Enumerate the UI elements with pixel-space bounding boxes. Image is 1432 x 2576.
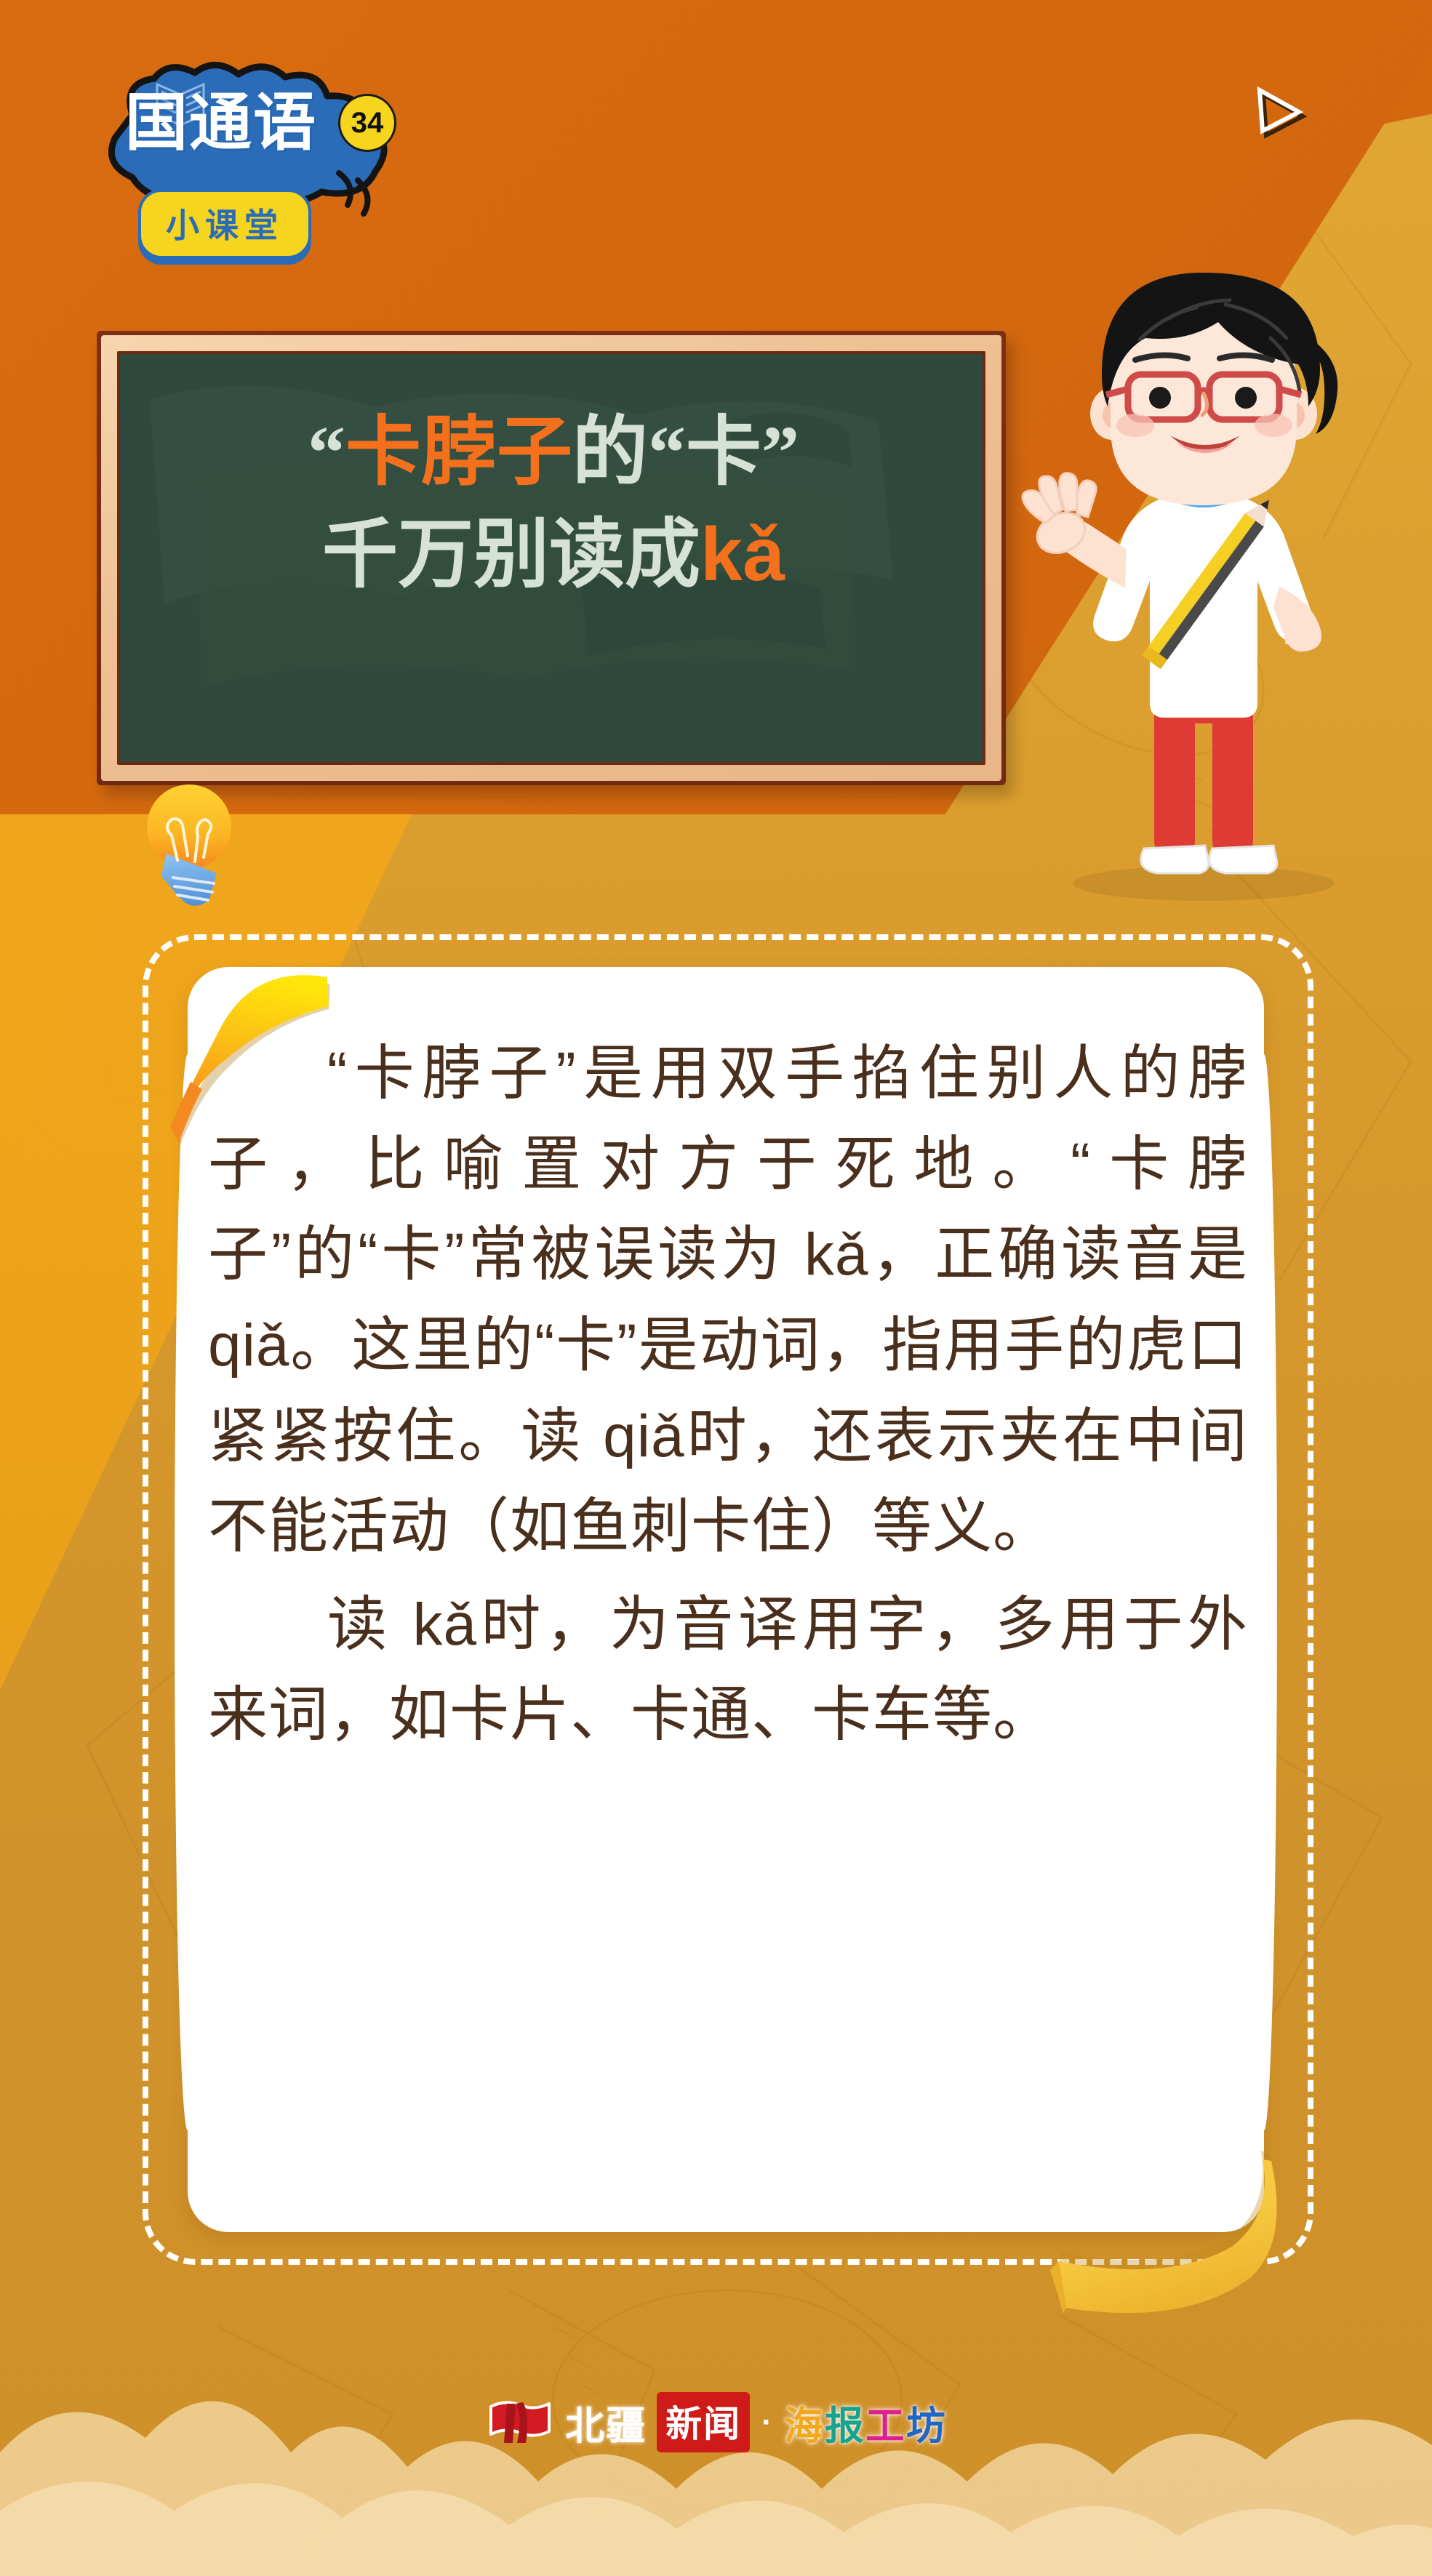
blackboard-quote-open: “ [308,411,345,494]
blackboard-line-2: 千万别读成kǎ [161,504,946,606]
poster-root: 国通语 34 小课堂 “卡脖子的“卡” [0,0,1432,2576]
footer-separator: · [761,2404,772,2441]
red-flag-logo-icon [485,2396,555,2449]
footer-studio-char-4: 坊 [906,2404,947,2448]
blackboard-line2-pinyin: kǎ [700,513,785,597]
blackboard-line1-rest: 的“卡” [572,411,799,494]
article-paragraph-2: 读 kǎ时，为音译用字，多用于外来词，如卡片、卡通、卡车等。 [208,1580,1248,1761]
footer-studio-char-3: 工 [865,2404,906,2448]
brand-logo[interactable]: 国通语 34 小课堂 [87,64,436,260]
blackboard-line2-prefix: 千万别读成 [322,513,700,597]
ribbon-bottom-right [1018,2116,1309,2327]
footer-studio-char-2: 报 [825,2404,865,2448]
footer-studio-char-1: 海 [784,2404,825,2448]
blackboard-line-1: “卡脖子的“卡” [161,402,946,504]
blackboard: “卡脖子的“卡” 千万别读成kǎ [97,331,1006,785]
blackboard-frame: “卡脖子的“卡” 千万别读成kǎ [101,335,1001,781]
footer-studio-name: 海报工坊 [784,2394,947,2451]
logo-subtitle: 小课堂 [138,189,311,259]
footer-brand-name: 北疆 [565,2394,647,2451]
blackboard-line1-highlight: 卡脖子 [345,411,572,494]
logo-title: 国通语 [125,92,317,154]
article-body: “卡脖子”是用双手掐住别人的脖子，比喻置对方于死地。“卡脖子”的“卡”常被误读为… [208,1029,1248,1768]
footer-brand-badge: 新闻 [657,2392,750,2452]
logo-issue-badge: 34 [340,96,394,150]
footer-branding: 北疆 新闻 · 海报工坊 [0,2392,1432,2452]
lightbulb-icon [137,774,246,912]
boy-teacher-mascot [985,258,1422,912]
blackboard-surface: “卡脖子的“卡” 千万别读成kǎ [117,351,985,765]
blackboard-text: “卡脖子的“卡” 千万别读成kǎ [120,354,983,607]
article-paragraph-1: “卡脖子”是用双手掐住别人的脖子，比喻置对方于死地。“卡脖子”的“卡”常被误读为… [208,1029,1248,1573]
play-triangle-icon [1252,80,1305,138]
